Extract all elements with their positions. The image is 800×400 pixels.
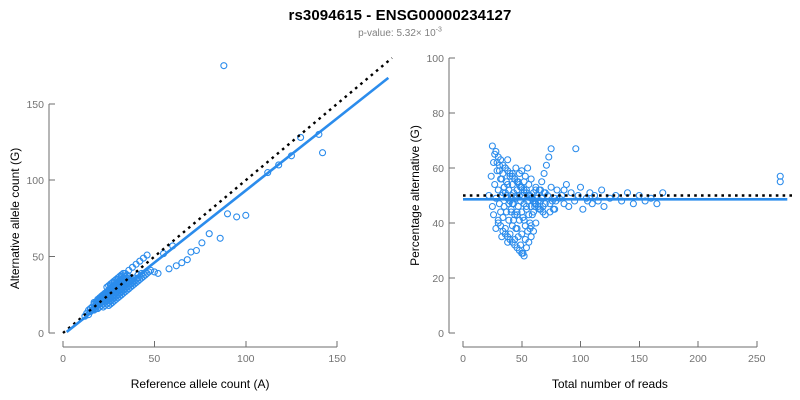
panel-percentage-vs-reads: 050100150200250020406080100Total number … bbox=[400, 40, 800, 400]
data-point bbox=[561, 187, 567, 193]
data-point bbox=[543, 162, 549, 168]
data-point bbox=[541, 171, 547, 177]
data-point bbox=[184, 257, 190, 263]
data-point bbox=[489, 143, 495, 149]
x-tick-label: 0 bbox=[60, 353, 66, 365]
data-point bbox=[601, 204, 607, 210]
data-point bbox=[243, 212, 249, 218]
data-point bbox=[500, 215, 506, 221]
y-tick-label: 40 bbox=[432, 218, 444, 230]
y-axis bbox=[49, 104, 55, 333]
data-points bbox=[486, 143, 783, 259]
data-point bbox=[525, 165, 531, 171]
data-point bbox=[548, 146, 554, 152]
data-point bbox=[573, 146, 579, 152]
x-axis-title: Reference allele count (A) bbox=[131, 377, 270, 391]
data-point bbox=[193, 248, 199, 254]
data-point bbox=[599, 187, 605, 193]
y-tick-label: 50 bbox=[32, 252, 44, 264]
y-tick-label: 20 bbox=[432, 273, 444, 285]
data-point bbox=[166, 266, 172, 272]
x-axis bbox=[63, 341, 337, 347]
data-point bbox=[578, 184, 584, 190]
data-point bbox=[489, 204, 495, 210]
data-point bbox=[580, 206, 586, 212]
data-point bbox=[488, 173, 494, 179]
y-tick-label: 100 bbox=[26, 175, 44, 187]
p-value-subtitle: p-value: 5.32× 10-3 bbox=[0, 27, 800, 40]
x-tick-label: 0 bbox=[460, 353, 466, 365]
x-axis-title: Total number of reads bbox=[552, 377, 668, 391]
x-tick-label: 250 bbox=[748, 353, 766, 365]
data-point bbox=[221, 63, 227, 69]
data-point bbox=[491, 212, 497, 218]
data-point bbox=[505, 157, 511, 163]
x-tick-label: 150 bbox=[328, 353, 346, 365]
scatter-plot-right: 050100150200250020406080100Total number … bbox=[400, 40, 800, 400]
title-block: rs3094615 - ENSG00000234127 p-value: 5.3… bbox=[0, 0, 800, 40]
data-point bbox=[492, 182, 498, 188]
data-point bbox=[217, 235, 223, 241]
data-point bbox=[320, 150, 326, 156]
p-value-text: p-value: 5.32× 10 bbox=[358, 28, 436, 39]
data-point bbox=[528, 176, 534, 182]
y-tick-label: 0 bbox=[38, 328, 44, 340]
panel-reference-vs-alternative: 050100150050100150Reference allele count… bbox=[0, 40, 400, 400]
x-tick-label: 50 bbox=[516, 353, 528, 365]
data-point bbox=[234, 214, 240, 220]
y-axis bbox=[449, 58, 455, 333]
data-points bbox=[82, 63, 326, 320]
y-tick-label: 0 bbox=[438, 328, 444, 340]
x-tick-label: 50 bbox=[149, 353, 161, 365]
figure-root: rs3094615 - ENSG00000234127 p-value: 5.3… bbox=[0, 0, 800, 400]
data-point bbox=[522, 173, 528, 179]
data-point bbox=[654, 201, 660, 207]
x-tick-label: 150 bbox=[630, 353, 648, 365]
x-tick-label: 200 bbox=[689, 353, 707, 365]
data-point bbox=[546, 154, 552, 160]
data-point bbox=[539, 179, 545, 185]
data-point bbox=[548, 184, 554, 190]
data-point bbox=[554, 187, 560, 193]
y-tick-label: 100 bbox=[426, 53, 444, 65]
y-axis-title: Alternative allele count (G) bbox=[8, 148, 22, 289]
y-tick-label: 150 bbox=[26, 99, 44, 111]
data-point bbox=[225, 211, 231, 217]
page-title: rs3094615 - ENSG00000234127 bbox=[0, 7, 800, 25]
x-axis bbox=[463, 341, 757, 347]
data-point bbox=[513, 165, 519, 171]
data-point bbox=[630, 201, 636, 207]
p-value-exponent: -3 bbox=[436, 27, 442, 34]
y-tick-label: 60 bbox=[432, 163, 444, 175]
y-tick-label: 80 bbox=[432, 108, 444, 120]
data-point bbox=[199, 240, 205, 246]
data-point bbox=[155, 270, 161, 276]
y-axis-title: Percentage alternative (G) bbox=[408, 125, 422, 266]
x-tick-label: 100 bbox=[572, 353, 590, 365]
scatter-plot-left: 050100150050100150Reference allele count… bbox=[0, 40, 400, 400]
data-point bbox=[566, 204, 572, 210]
fitted-line bbox=[67, 78, 389, 332]
data-point bbox=[206, 231, 212, 237]
x-tick-label: 100 bbox=[237, 353, 255, 365]
